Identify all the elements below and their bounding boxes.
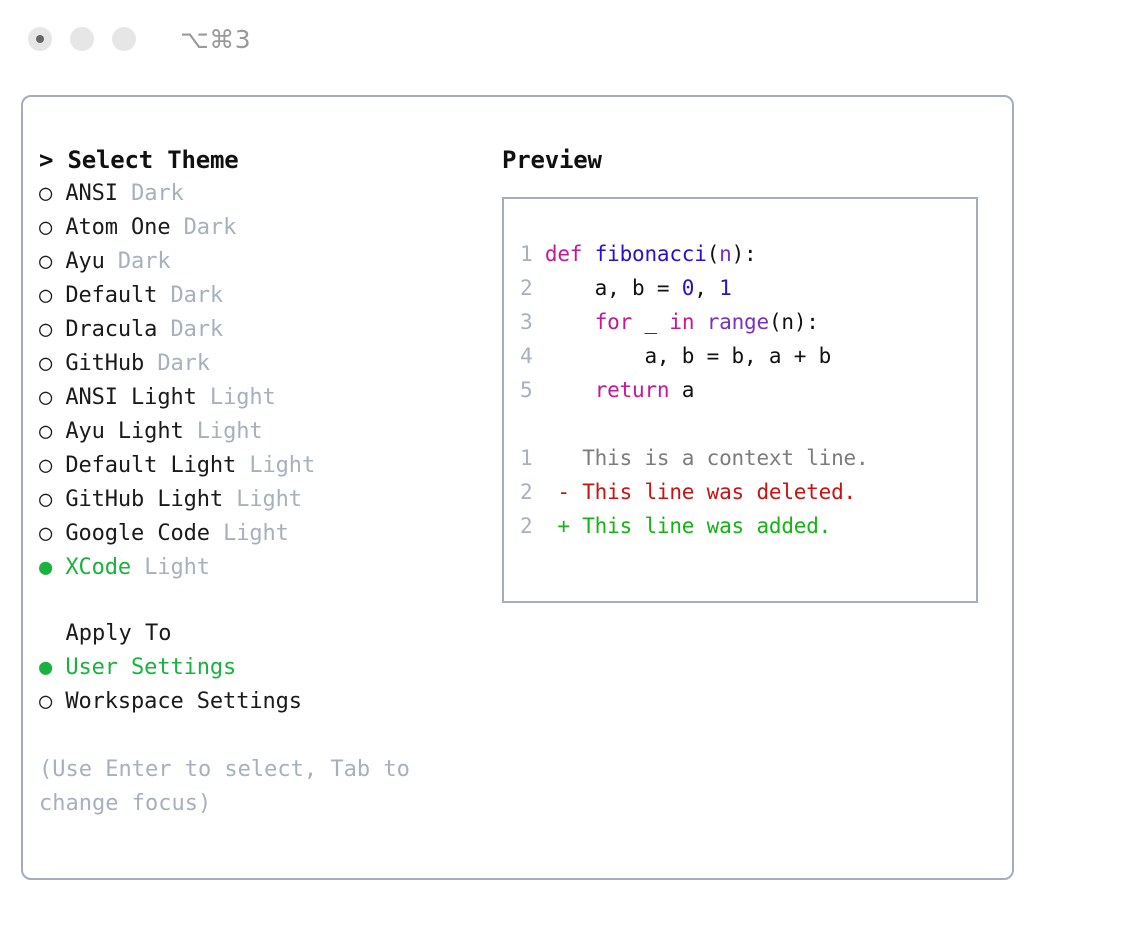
theme-option-label: Default Light [65, 453, 236, 478]
theme-option-label: Atom One [65, 215, 170, 240]
spacer [532, 344, 544, 368]
apply-to-option-user-settings[interactable]: ● User Settings [39, 651, 489, 685]
theme-option-label: Dracula [65, 317, 157, 342]
theme-variant-badge: Light [144, 555, 210, 580]
code-line-number: 2 [520, 276, 532, 300]
spacer [184, 419, 197, 444]
code-token-fn: fibonacci [595, 242, 707, 266]
apply-to-option-label: Workspace Settings [65, 689, 302, 714]
diff-text: This is a context line. [570, 446, 869, 470]
radio-unselected-icon: ○ [39, 487, 52, 512]
theme-variant-badge: Dark [184, 215, 237, 240]
spacer [210, 521, 223, 546]
spacer [52, 555, 65, 580]
radio-unselected-icon: ○ [39, 419, 52, 444]
traffic-light-active-icon[interactable] [28, 27, 52, 51]
preview-panel: Preview 1 def fibonacci(n):2 a, b = 0, 1… [502, 143, 992, 603]
code-line: 5 return a [520, 373, 976, 407]
spacer [532, 514, 557, 538]
theme-variant-badge: Dark [157, 351, 210, 376]
diff-line-add: 2 + This line was added. [520, 509, 976, 543]
theme-variant-badge: Light [210, 385, 276, 410]
radio-unselected-icon: ○ [39, 249, 52, 274]
code-line: 1 def fibonacci(n): [520, 237, 976, 271]
theme-option-dracula[interactable]: ○ Dracula Dark [39, 313, 489, 347]
window-columns: > Select Theme ○ ANSI Dark○ Atom One Dar… [23, 97, 1012, 878]
radio-selected-icon: ● [39, 655, 52, 680]
spacer [52, 487, 65, 512]
apply-to-option-list: ● User Settings○ Workspace Settings [39, 651, 489, 719]
apply-to-option-workspace-settings[interactable]: ○ Workspace Settings [39, 685, 489, 719]
spacer [532, 480, 557, 504]
radio-unselected-icon: ○ [39, 283, 52, 308]
theme-option-label: GitHub [65, 351, 144, 376]
theme-option-list: ○ ANSI Dark○ Atom One Dark○ Ayu Dark○ De… [39, 177, 489, 585]
keyboard-hint: (Use Enter to select, Tab to change focu… [39, 753, 449, 821]
spacer [118, 181, 131, 206]
radio-unselected-icon: ○ [39, 521, 52, 546]
theme-option-default-light[interactable]: ○ Default Light Light [39, 449, 489, 483]
apply-to-header: Apply To [39, 617, 489, 651]
spacer [170, 215, 183, 240]
traffic-light-third-icon[interactable] [112, 27, 136, 51]
preview-box: 1 def fibonacci(n):2 a, b = 0, 13 for _ … [502, 197, 978, 603]
code-token-pl: a [669, 378, 694, 402]
theme-variant-badge: Dark [131, 181, 184, 206]
theme-option-label: ANSI Light [65, 385, 196, 410]
spacer [157, 283, 170, 308]
theme-option-github-light[interactable]: ○ GitHub Light Light [39, 483, 489, 517]
theme-option-label: Default [65, 283, 157, 308]
code-token-num: 1 [719, 276, 731, 300]
theme-option-default[interactable]: ○ Default Dark [39, 279, 489, 313]
code-token-num: 0 [682, 276, 694, 300]
code-line-number: 4 [520, 344, 532, 368]
theme-variant-badge: Dark [171, 283, 224, 308]
spacer [52, 351, 65, 376]
radio-unselected-icon: ○ [39, 351, 52, 376]
traffic-light-second-icon[interactable] [70, 27, 94, 51]
spacer [532, 310, 544, 334]
code-token-pl [545, 310, 595, 334]
code-token-pl: , [694, 276, 719, 300]
code-line-number: 1 [520, 242, 532, 266]
code-diff-spacer [520, 407, 976, 441]
spacer [52, 521, 65, 546]
window-titlebar: ⌥⌘3 [0, 0, 1140, 78]
theme-variant-badge: Light [223, 521, 289, 546]
diff-sample: 1 This is a context line.2 - This line w… [520, 441, 976, 543]
theme-variant-badge: Dark [171, 317, 224, 342]
radio-unselected-icon: ○ [39, 453, 52, 478]
spacer [532, 276, 544, 300]
code-token-kw: in [669, 310, 694, 334]
code-token-bfn: n [719, 242, 731, 266]
theme-picker-panel: > Select Theme ○ ANSI Dark○ Atom One Dar… [39, 143, 489, 821]
traffic-lights [28, 27, 136, 51]
diff-line-ctx: 1 This is a context line. [520, 441, 976, 475]
spacer [52, 419, 65, 444]
code-token-pl: a, b = [545, 276, 682, 300]
spacer [52, 689, 65, 714]
code-token-pl [545, 378, 595, 402]
radio-selected-icon: ● [39, 555, 52, 580]
diff-sign: - [557, 480, 569, 504]
code-token-pl: ( [707, 242, 719, 266]
select-theme-header: > Select Theme [39, 143, 489, 177]
theme-option-github[interactable]: ○ GitHub Dark [39, 347, 489, 381]
radio-unselected-icon: ○ [39, 215, 52, 240]
code-token-pl: (n): [769, 310, 819, 334]
radio-unselected-icon: ○ [39, 181, 52, 206]
code-token-pl: a, b = b, a + b [545, 344, 831, 368]
spacer [144, 351, 157, 376]
code-token-pl [694, 310, 706, 334]
code-token-kw: return [595, 378, 670, 402]
spacer [105, 249, 118, 274]
spacer [157, 317, 170, 342]
diff-sign: + [557, 514, 569, 538]
preview-title: Preview [502, 143, 992, 177]
spacer [131, 555, 144, 580]
theme-option-label: XCode [65, 555, 131, 580]
code-line: 4 a, b = b, a + b [520, 339, 976, 373]
code-line-number: 5 [520, 378, 532, 402]
spacer [52, 181, 65, 206]
apply-to-option-label: User Settings [65, 655, 236, 680]
window-title: ⌥⌘3 [180, 25, 251, 54]
diff-text: This line was added. [570, 514, 831, 538]
diff-text: This line was deleted. [570, 480, 856, 504]
code-line-number: 3 [520, 310, 532, 334]
theme-option-ayu-light[interactable]: ○ Ayu Light Light [39, 415, 489, 449]
theme-variant-badge: Light [249, 453, 315, 478]
spacer [532, 378, 544, 402]
theme-option-label: Google Code [65, 521, 210, 546]
theme-option-label: Ayu [65, 249, 104, 274]
code-sample: 1 def fibonacci(n):2 a, b = 0, 13 for _ … [520, 237, 976, 407]
radio-unselected-icon: ○ [39, 317, 52, 342]
spacer [52, 317, 65, 342]
spacer [52, 453, 65, 478]
code-line: 2 a, b = 0, 1 [520, 271, 976, 305]
theme-option-ansi-light[interactable]: ○ ANSI Light Light [39, 381, 489, 415]
theme-variant-badge: Light [236, 487, 302, 512]
spacer [532, 242, 544, 266]
spacer [223, 487, 236, 512]
code-token-pl: _ [632, 310, 669, 334]
theme-variant-badge: Light [197, 419, 263, 444]
theme-option-label: Ayu Light [65, 419, 183, 444]
theme-variant-badge: Dark [118, 249, 171, 274]
spacer [236, 453, 249, 478]
diff-line-number: 1 [520, 446, 532, 470]
diff-sign [557, 446, 569, 470]
theme-option-label: GitHub Light [65, 487, 223, 512]
theme-option-ayu[interactable]: ○ Ayu Dark [39, 245, 489, 279]
spacer [532, 446, 557, 470]
spacer [197, 385, 210, 410]
spacer [52, 215, 65, 240]
spacer [52, 249, 65, 274]
theme-option-label: ANSI [65, 181, 118, 206]
diff-line-number: 2 [520, 514, 532, 538]
theme-option-ansi[interactable]: ○ ANSI Dark [39, 177, 489, 211]
theme-option-atom-one[interactable]: ○ Atom One Dark [39, 211, 489, 245]
radio-unselected-icon: ○ [39, 385, 52, 410]
code-token-kw: for [595, 310, 632, 334]
spacer [52, 283, 65, 308]
section-spacer [39, 585, 489, 617]
main-window: > Select Theme ○ ANSI Dark○ Atom One Dar… [21, 95, 1014, 880]
radio-unselected-icon: ○ [39, 689, 52, 714]
theme-option-google-code[interactable]: ○ Google Code Light [39, 517, 489, 551]
code-token-pl: ): [732, 242, 757, 266]
code-token-kw: def [545, 242, 595, 266]
theme-option-xcode[interactable]: ● XCode Light [39, 551, 489, 585]
spacer [52, 655, 65, 680]
code-token-bfn: range [707, 310, 769, 334]
diff-line-del: 2 - This line was deleted. [520, 475, 976, 509]
diff-line-number: 2 [520, 480, 532, 504]
code-line: 3 for _ in range(n): [520, 305, 976, 339]
spacer [52, 385, 65, 410]
